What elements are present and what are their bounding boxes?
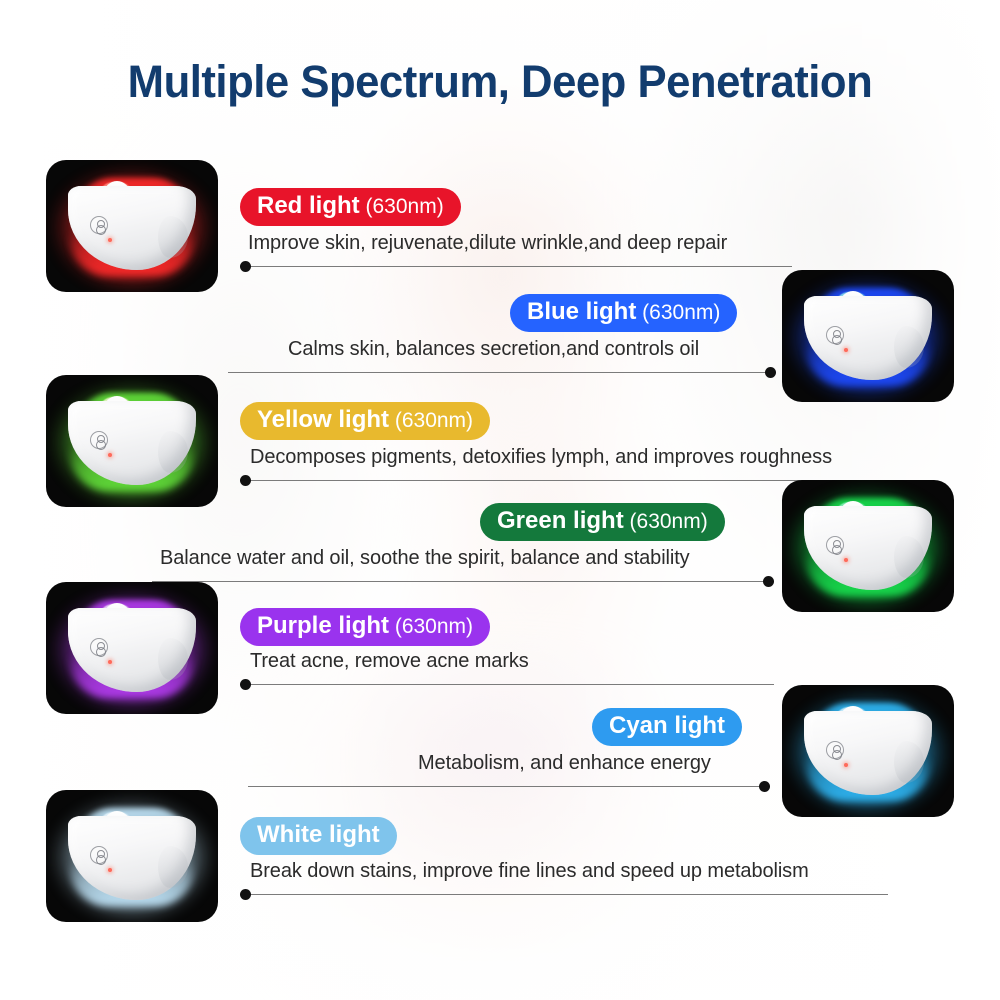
power-led-icon: [108, 238, 112, 242]
divider-line: [152, 581, 774, 582]
description-cyan: Metabolism, and enhance energy: [418, 752, 711, 775]
badge-label: Purple light: [257, 612, 389, 639]
badge-label: Cyan light: [609, 712, 725, 739]
power-led-icon: [108, 453, 112, 457]
device-thumbnail-yellow: [46, 375, 218, 507]
badge-purple-light: Purple light (630nm): [240, 608, 490, 646]
badge-yellow-light: Yellow light (630nm): [240, 402, 490, 440]
divider-dot: [763, 576, 774, 587]
divider-red: [240, 261, 792, 272]
badge-label: Green light: [497, 507, 624, 534]
brand-logo-icon: [90, 216, 108, 234]
divider-line: [240, 266, 792, 267]
infographic-page: Multiple Spectrum, Deep Penetration Impr…: [0, 0, 1000, 1000]
divider-dot: [765, 367, 776, 378]
device-scene: [782, 480, 954, 612]
description-white: Break down stains, improve fine lines an…: [250, 860, 809, 883]
device-thumbnail-blue: [782, 270, 954, 402]
divider-blue: [228, 367, 776, 378]
device-scene: [46, 160, 218, 292]
device-scene: [46, 375, 218, 507]
description-blue: Calms skin, balances secretion,and contr…: [288, 338, 699, 361]
page-title: Multiple Spectrum, Deep Penetration: [15, 56, 985, 108]
device-thumbnail-cyan: [782, 685, 954, 817]
divider-line: [240, 684, 774, 685]
badge-label: Blue light: [527, 298, 636, 325]
badge-wavelength: (630nm): [624, 510, 708, 533]
badge-wavelength: (630nm): [636, 301, 720, 324]
badge-red-light: Red light (630nm): [240, 188, 461, 226]
power-led-icon: [108, 868, 112, 872]
badge-green-light: Green light (630nm): [480, 503, 725, 541]
device-scene: [782, 270, 954, 402]
device-thumbnail-red: [46, 160, 218, 292]
divider-line: [240, 894, 888, 895]
device-thumbnail-purple: [46, 582, 218, 714]
device-scene: [782, 685, 954, 817]
divider-dot: [240, 679, 251, 690]
divider-green: [152, 576, 774, 587]
divider-dot: [240, 261, 251, 272]
badge-label: Red light: [257, 192, 360, 219]
power-led-icon: [844, 558, 848, 562]
brand-logo-icon: [826, 536, 844, 554]
description-yellow: Decomposes pigments, detoxifies lymph, a…: [250, 446, 832, 469]
badge-wavelength: (630nm): [389, 615, 473, 638]
device-thumbnail-white: [46, 790, 218, 922]
badge-wavelength: (630nm): [389, 409, 473, 432]
brand-logo-icon: [90, 846, 108, 864]
power-led-icon: [844, 763, 848, 767]
device-thumbnail-green: [782, 480, 954, 612]
brand-logo-icon: [90, 638, 108, 656]
divider-line: [248, 786, 770, 787]
badge-wavelength: (630nm): [360, 195, 444, 218]
divider-line: [228, 372, 776, 373]
badge-label: Yellow light: [257, 406, 389, 433]
badge-cyan-light: Cyan light: [592, 708, 742, 746]
divider-dot: [240, 475, 251, 486]
device-scene: [46, 790, 218, 922]
description-purple: Treat acne, remove acne marks: [250, 650, 529, 673]
divider-dot: [240, 889, 251, 900]
brand-logo-icon: [90, 431, 108, 449]
description-green: Balance water and oil, soothe the spirit…: [160, 547, 690, 570]
power-led-icon: [108, 660, 112, 664]
divider-white: [240, 889, 888, 900]
badge-blue-light: Blue light (630nm): [510, 294, 737, 332]
divider-cyan: [248, 781, 770, 792]
power-led-icon: [844, 348, 848, 352]
badge-label: White light: [257, 821, 380, 848]
divider-purple: [240, 679, 774, 690]
description-red: Improve skin, rejuvenate,dilute wrinkle,…: [248, 232, 727, 255]
divider-dot: [759, 781, 770, 792]
device-scene: [46, 582, 218, 714]
badge-white-light: White light: [240, 817, 397, 855]
brand-logo-icon: [826, 326, 844, 344]
brand-logo-icon: [826, 741, 844, 759]
